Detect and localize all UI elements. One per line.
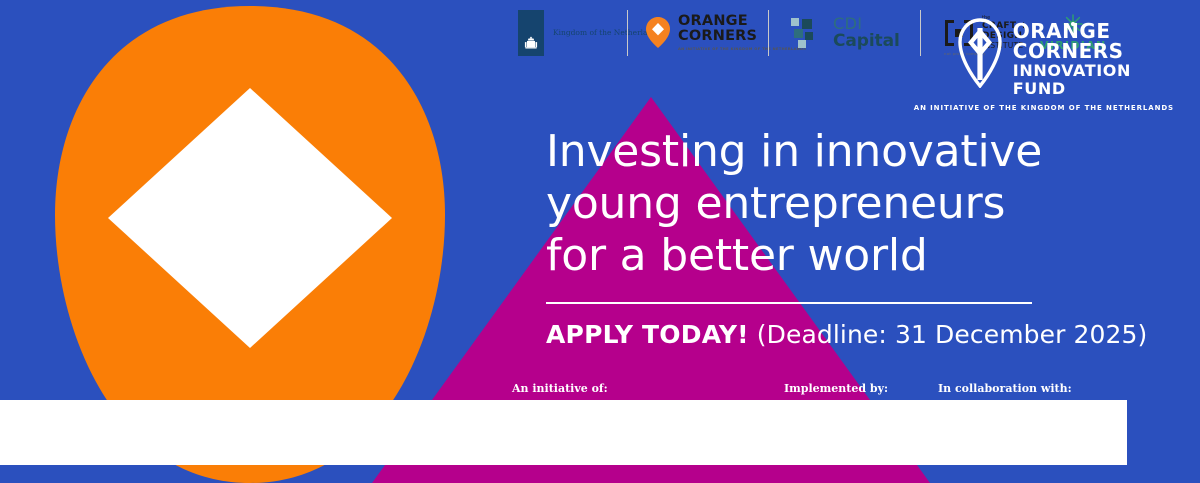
orange-corners-pin-icon: [957, 18, 1003, 88]
logo-tagline: AN INITIATIVE OF THE KINGDOM OF THE NETH…: [914, 104, 1174, 112]
logo-divider-2: [768, 10, 769, 56]
cdi-squares-icon: [790, 17, 824, 49]
logo-wordmark: ORANGE CORNERS INNOVATION FUND: [1013, 18, 1131, 97]
orange-corners-wordmark: ORANGE CORNERS AN INITIATIVE OF THE KING…: [678, 14, 806, 51]
label-an-initiative-of: An initiative of:: [512, 382, 608, 395]
deadline-label: (Deadline: 31 December 2025): [749, 320, 1148, 349]
oc-line-orange: ORANGE: [678, 14, 806, 29]
logo-line-orange: ORANGE: [1013, 21, 1131, 41]
headline-block: Investing in innovative young entreprene…: [546, 126, 1166, 349]
headline-line-3: for a better world: [546, 230, 1166, 282]
netherlands-navy-bar: [518, 10, 544, 56]
headline-line-2: young entrepreneurs: [546, 178, 1166, 230]
logo-kingdom-of-the-netherlands: Kingdom of the Netherlands: [518, 9, 661, 57]
cdi-line-cdi: CDI: [833, 16, 900, 32]
oc-line-corners: CORNERS: [678, 29, 806, 44]
logo-line-corners: CORNERS: [1013, 41, 1131, 61]
partner-logo-strip: [0, 400, 1127, 465]
apply-today-label[interactable]: APPLY TODAY!: [546, 320, 749, 349]
cdi-wordmark: CDI Capital: [833, 16, 900, 50]
logo-line-innovation: INNOVATION: [1013, 63, 1131, 79]
oc-tagline: AN INITIATIVE OF THE KINGDOM OF THE NETH…: [678, 47, 806, 51]
call-to-action[interactable]: APPLY TODAY! (Deadline: 31 December 2025…: [546, 320, 1166, 349]
orange-corners-pin-icon: [645, 16, 671, 49]
logo-lockup: ORANGE CORNERS INNOVATION FUND: [957, 18, 1131, 97]
netherlands-crest-icon: [523, 36, 539, 49]
campaign-banner: ORANGE CORNERS INNOVATION FUND AN INITIA…: [0, 0, 1200, 483]
orange-corners-innovation-fund-logo: ORANGE CORNERS INNOVATION FUND AN INITIA…: [914, 18, 1174, 112]
logo-line-fund: FUND: [1013, 81, 1131, 97]
logo-orange-corners: ORANGE CORNERS AN INITIATIVE OF THE KING…: [645, 9, 806, 57]
label-implemented-by: Implemented by:: [784, 382, 888, 395]
headline-line-1: Investing in innovative: [546, 126, 1166, 178]
cta-divider-rule: [546, 302, 1032, 304]
label-in-collaboration-with: In collaboration with:: [938, 382, 1072, 395]
cdi-line-capital: Capital: [833, 33, 900, 50]
logo-cdi-capital: CDI Capital: [790, 9, 900, 57]
logo-divider-1: [627, 10, 628, 56]
